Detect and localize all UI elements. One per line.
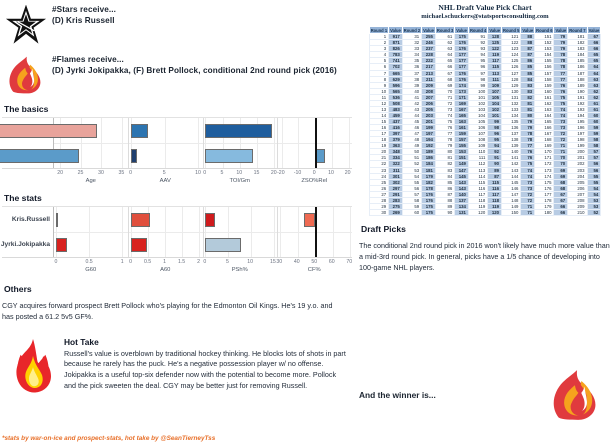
table-row: 302696017590131120120150711806621052 [369, 209, 601, 215]
axis-title: CF% [278, 267, 352, 273]
chart-bar-row [129, 118, 203, 143]
chart-bar [131, 149, 137, 163]
table-cell-pick: 180 [535, 209, 554, 215]
axis-tick-label: 20 [345, 170, 351, 176]
axis-facet: 00.511.52A60 [129, 258, 204, 276]
trade-row-stars: #Stars receive... (D) Kris Russell [0, 2, 352, 48]
axis-tick-label: -10 [294, 170, 302, 176]
axis-facet: 3040506070CF% [278, 258, 353, 276]
chart-bar-row [54, 143, 128, 168]
chart-bar [304, 213, 315, 227]
chart-bar [0, 124, 97, 138]
axis-tick-label: 0 [203, 259, 206, 265]
axis-tick-label: 30 [276, 259, 282, 265]
axis-tick-label: 5 [221, 170, 224, 176]
table-column-header: Round 3 [435, 27, 454, 34]
axis-tick-label: 10 [328, 170, 334, 176]
stats-chart: Kris.RussellJyrki.Jokipakka00.51G6000.51… [2, 206, 352, 276]
trade-row-flames: #Flames receive... (D) Jyrki Jokipakka, … [0, 52, 352, 98]
table-column-header: Value [455, 27, 469, 34]
chart-bar [56, 238, 67, 252]
axis-tick-label: 10 [195, 170, 201, 176]
left-column: #Stars receive... (D) Kris Russell #Flam… [0, 0, 352, 446]
chart-bar [205, 149, 253, 163]
axis-tick-label: 40 [294, 259, 300, 265]
basics-chart: Kris.RussellJyrki.Jokipakka20253035Age05… [2, 117, 352, 187]
chart-facet-toi-gm [204, 118, 279, 168]
table-cell-pick: 30 [369, 209, 388, 215]
axis-tick-label: 70 [346, 259, 352, 265]
table-column-header: Round 2 [402, 27, 421, 34]
axis-spacer [2, 258, 54, 276]
others-section: Others CGY acquires forward prospect Bre… [0, 284, 345, 323]
table-column-header: Value [554, 27, 568, 34]
chart-facet-age [54, 118, 129, 168]
axis-tick-label: 25 [78, 170, 84, 176]
axis-tick-label: 15 [270, 259, 276, 265]
axis-title: AAV [129, 178, 203, 184]
table-column-header: Round 6 [535, 27, 554, 34]
chart-plot-area: Kris.RussellJyrki.Jokipakka [2, 206, 352, 258]
chart-plot-area: Kris.RussellJyrki.Jokipakka [2, 117, 352, 169]
chart-facets [54, 118, 352, 168]
axis-tick-label: 0 [313, 170, 316, 176]
stats-section: The stats Kris.RussellJyrki.Jokipakka00.… [0, 193, 352, 276]
axis-title: A60 [129, 267, 203, 273]
trade-text-stars: #Stars receive... (D) Kris Russell [52, 2, 116, 25]
axis-title: G60 [54, 267, 128, 273]
axis-tick-label: 35 [118, 170, 124, 176]
right-column: NHL Draft Value Pick Chart michael.schuc… [355, 0, 615, 446]
axis-title: TOI/Gm [203, 178, 277, 184]
table-cell-value: 71 [521, 209, 535, 215]
axis-title: PSh% [203, 267, 277, 273]
winner-section: And the winner is... [355, 366, 615, 424]
axis-title: Age [54, 178, 128, 184]
chart-bar [205, 238, 241, 252]
table-cell-pick: 120 [468, 209, 487, 215]
table-column-header: Value [521, 27, 535, 34]
section-heading-draft-picks: Draft Picks [361, 224, 611, 234]
chart-facet-aav [129, 118, 204, 168]
section-heading-others: Others [4, 284, 345, 294]
trade-line1: #Flames receive... [52, 55, 337, 64]
table-column-header: Value [389, 27, 403, 34]
axis-tick-label: 0 [129, 170, 132, 176]
chart-bar [131, 238, 147, 252]
chart-facet-psh- [204, 207, 279, 257]
hot-take-title: Hot Take [64, 337, 348, 347]
draft-picks-text: The conditional 2nd round pick in 2016 w… [359, 241, 611, 273]
table-cell-pick: 60 [402, 209, 421, 215]
axis-tick-label: -20 [277, 170, 285, 176]
table-cell-value: 52 [587, 209, 601, 215]
axis-tick-label: 0.5 [85, 259, 92, 265]
chart-row-label: Jyrki.Jokipakka [2, 232, 53, 257]
basics-section: The basics Kris.RussellJyrki.Jokipakka20… [0, 104, 352, 187]
axis-tick-label: 1 [163, 259, 166, 265]
winner-label: And the winner is... [355, 390, 537, 400]
chart-bar-row [129, 207, 203, 232]
chart-bar-row [204, 118, 278, 143]
hot-take-text: Russell's value is overblown by traditio… [64, 349, 348, 392]
facet-zero-line [315, 207, 316, 257]
axis-tick-label: 0 [129, 259, 132, 265]
chart-facet-cf- [278, 207, 352, 257]
trade-text-flames: #Flames receive... (D) Jyrki Jokipakka, … [52, 52, 337, 75]
chart-bar-row [54, 118, 128, 143]
axis-spacer [2, 169, 54, 187]
chart-bar-row [54, 207, 128, 232]
table-column-header: Round 5 [502, 27, 521, 34]
chart-bar [315, 149, 325, 163]
chart-row-label: Kris.Russell [2, 207, 53, 232]
trade-line2: (D) Jyrki Jokipakka, (F) Brett Pollock, … [52, 66, 337, 75]
chart-bar [205, 124, 272, 138]
chart-facet-g60 [54, 207, 129, 257]
pick-chart-title: NHL Draft Value Pick Chart [355, 3, 615, 13]
hot-take-body: Hot Take Russell's value is overblown by… [64, 337, 348, 392]
axis-tick-label: 20 [57, 170, 63, 176]
axis-facet: 20253035Age [54, 169, 129, 187]
footer-credits: *stats by war-on-ice and prospect-stats,… [2, 435, 215, 442]
chart-bar-row [204, 232, 278, 257]
chart-bar-row [129, 232, 203, 257]
axis-tick-label: 15 [254, 170, 260, 176]
section-heading-basics: The basics [4, 104, 352, 114]
axis-tick-label: 0 [55, 259, 58, 265]
table-cell-value: 269 [389, 209, 403, 215]
axis-facet: 0510AAV [129, 169, 204, 187]
draft-picks-section: Draft Picks The conditional 2nd round pi… [355, 224, 615, 273]
axis-tick-label: 30 [98, 170, 104, 176]
axis-tick-label: 60 [329, 259, 335, 265]
axis-tick-label: 20 [271, 170, 277, 176]
chart-bar-row [204, 207, 278, 232]
table-column-header: Round 1 [369, 27, 388, 34]
axis-tick-label: 10 [247, 259, 253, 265]
chart-bar-row [54, 232, 128, 257]
axis-tick-label: 5 [163, 170, 166, 176]
axis-tick-label: 50 [311, 259, 317, 265]
section-heading-stats: The stats [4, 193, 352, 203]
axis-tick-label: 2 [197, 259, 200, 265]
pick-chart-title-block: NHL Draft Value Pick Chart michael.schuc… [355, 0, 615, 22]
hot-take-section: Hot Take Russell's value is overblown by… [0, 337, 348, 393]
trade-line2: (D) Kris Russell [52, 16, 116, 25]
table-cell-value: 175 [422, 209, 436, 215]
dallas-stars-logo [0, 2, 52, 48]
chart-bar-row [129, 143, 203, 168]
facet-zero-line [315, 118, 316, 168]
table-cell-pick: 210 [568, 209, 587, 215]
chart-axis: 20253035Age0510AAV05101520TOI/Gm-20-1001… [2, 169, 352, 187]
chart-bar [56, 213, 58, 227]
axis-facets: 00.51G6000.511.52A60051015PSh%3040506070… [54, 258, 352, 276]
chart-bar [131, 124, 149, 138]
table-column-header: Round 4 [468, 27, 487, 34]
chart-bar-row [204, 143, 278, 168]
axis-facet: -20-1001020ZSO%Rel [278, 169, 353, 187]
axis-tick-label: 1.5 [178, 259, 185, 265]
axis-title: ZSO%Rel [278, 178, 352, 184]
chart-facets [54, 207, 352, 257]
chart-facet-a60 [129, 207, 204, 257]
table-cell-value: 120 [488, 209, 502, 215]
flame-icon [2, 337, 64, 393]
table-header-row: Round 1ValueRound 2ValueRound 3ValueRoun… [369, 27, 601, 34]
calgary-flames-logo [0, 52, 52, 98]
axis-facets: 20253035Age0510AAV05101520TOI/Gm-20-1001… [54, 169, 352, 187]
pick-chart-subtitle: michael.schuckers@statsportsconsulting.c… [355, 13, 615, 22]
chart-axis: 00.51G6000.511.52A60051015PSh%3040506070… [2, 258, 352, 276]
table-column-header: Value [422, 27, 436, 34]
table-column-header: Value [488, 27, 502, 34]
axis-tick-label: 5 [226, 259, 229, 265]
axis-facet: 00.51G60 [54, 258, 129, 276]
pick-chart-table-wrap: Round 1ValueRound 2ValueRound 3ValueRoun… [355, 26, 615, 216]
table-cell-value: 131 [455, 209, 469, 215]
chart-facet-zso-rel [278, 118, 352, 168]
table-cell-pick: 90 [435, 209, 454, 215]
axis-tick-label: 10 [236, 170, 242, 176]
others-text: CGY acquires forward prospect Brett Poll… [2, 301, 345, 323]
draft-value-pick-table: Round 1ValueRound 2ValueRound 3ValueRoun… [369, 26, 602, 216]
axis-tick-label: 0.5 [144, 259, 151, 265]
axis-facet: 051015PSh% [203, 258, 278, 276]
winner-calgary-flames-logo [537, 366, 615, 424]
chart-bar [205, 213, 215, 227]
axis-tick-label: 0 [203, 170, 206, 176]
chart-row-labels: Kris.RussellJyrki.Jokipakka [2, 207, 54, 257]
chart-bar [0, 149, 79, 163]
axis-facet: 05101520TOI/Gm [203, 169, 278, 187]
chart-bar [131, 213, 150, 227]
table-column-header: Round 7 [568, 27, 587, 34]
table-column-header: Value [587, 27, 601, 34]
table-cell-value: 66 [554, 209, 568, 215]
trade-line1: #Stars receive... [52, 5, 116, 14]
table-cell-pick: 150 [502, 209, 521, 215]
axis-tick-label: 1 [121, 259, 124, 265]
